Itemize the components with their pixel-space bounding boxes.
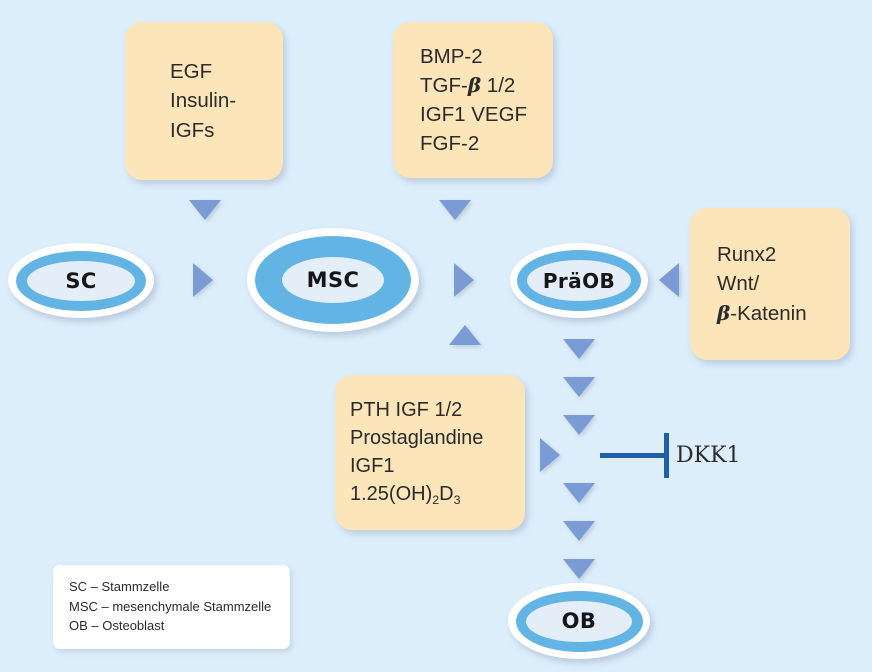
cell-node-sc: SC [8, 243, 154, 318]
arrow-down-chain-4 [563, 483, 595, 503]
pth-line-2: Prostaglandine [350, 424, 525, 452]
legend-box: SC – Stammzelle MSC – mesenchymale Stamm… [53, 565, 290, 649]
ob-core: OB [526, 601, 632, 642]
legend-line-msc: MSC – mesenchymale Stammzelle [69, 597, 290, 617]
arrow-down-chain-5 [563, 521, 595, 541]
vitamind-prefix: 1.25(OH) [350, 483, 432, 505]
pth-line-3: IGF1 [350, 452, 525, 480]
sc-core: SC [27, 261, 135, 301]
cell-node-ob: OB [508, 583, 650, 659]
tgf-suffix: 1/2 [481, 74, 515, 97]
beta-symbol-tgf: β [468, 73, 481, 97]
pth-igf-prostaglandine-vitamind-box: PTH IGF 1/2 Prostaglandine IGF1 1.25(OH)… [335, 375, 525, 530]
msc-ring: MSC [255, 236, 411, 324]
pathway-diagram-canvas: EGF Insulin- IGFs BMP-2 TGF-β 1/2 IGF1 V… [0, 0, 872, 672]
arrow-up-pth-to-msc [449, 325, 481, 345]
praeob-ring: PräOB [517, 250, 641, 311]
dkk1-label: DKK1 [676, 443, 741, 468]
sc-ring: SC [16, 251, 146, 311]
runx-line-1: Runx2 [717, 240, 850, 269]
vitamind-subscript-3: 3 [454, 493, 461, 507]
arrow-down-chain-3 [563, 415, 595, 435]
arrow-down-chain-1 [563, 339, 595, 359]
runx2-wnt-beta-katenin-box: Runx2 Wnt/ β-Katenin [690, 208, 850, 360]
sc-label: SC [65, 269, 96, 293]
katenin-suffix: -Katenin [730, 302, 806, 325]
praeob-core: PräOB [527, 260, 631, 301]
inhibition-horizontal-line [600, 453, 668, 458]
egf-line-1: EGF [170, 57, 283, 86]
bmp-tgf-igf-vegf-fgf-box: BMP-2 TGF-β 1/2 IGF1 VEGF FGF-2 [393, 22, 553, 178]
runx-line-3: β-Katenin [717, 299, 850, 328]
ob-label: OB [562, 609, 597, 633]
arrow-down-chain-6 [563, 559, 595, 579]
msc-label: MSC [307, 268, 360, 292]
egf-insulin-igfs-box: EGF Insulin- IGFs [125, 22, 283, 180]
legend-line-sc: SC – Stammzelle [69, 577, 290, 597]
egf-line-2: Insulin- [170, 86, 283, 115]
legend-line-ob: OB – Osteoblast [69, 616, 290, 636]
cell-node-praeob: PräOB [510, 243, 648, 318]
pth-line-1: PTH IGF 1/2 [350, 396, 525, 424]
runx-line-2: Wnt/ [717, 269, 850, 298]
arrow-right-msc-to-praeob [454, 263, 474, 297]
inhibition-vertical-bar [664, 433, 669, 478]
bmp-line-4: FGF-2 [420, 129, 553, 158]
arrow-down-egf-to-sc [189, 200, 221, 220]
egf-line-3: IGFs [170, 116, 283, 145]
arrow-right-pth-to-chain [540, 438, 560, 472]
arrow-down-bmp-to-msc [439, 200, 471, 220]
praeob-label: PräOB [543, 269, 615, 293]
beta-symbol-katenin: β [717, 301, 730, 325]
dkk1-inhibition-symbol [600, 433, 669, 478]
ob-ring: OB [516, 591, 643, 652]
cell-node-msc: MSC [247, 228, 419, 332]
arrow-right-sc-to-msc [193, 263, 213, 297]
arrow-down-chain-2 [563, 377, 595, 397]
bmp-line-3: IGF1 VEGF [420, 100, 553, 129]
arrow-left-runx-to-praeob [659, 263, 679, 297]
vitamind-d: D [439, 483, 453, 505]
pth-line-4: 1.25(OH)2D3 [350, 480, 525, 509]
msc-core: MSC [282, 257, 384, 303]
tgf-prefix: TGF- [420, 74, 468, 97]
bmp-line-1: BMP-2 [420, 42, 553, 71]
bmp-line-2: TGF-β 1/2 [420, 71, 553, 100]
